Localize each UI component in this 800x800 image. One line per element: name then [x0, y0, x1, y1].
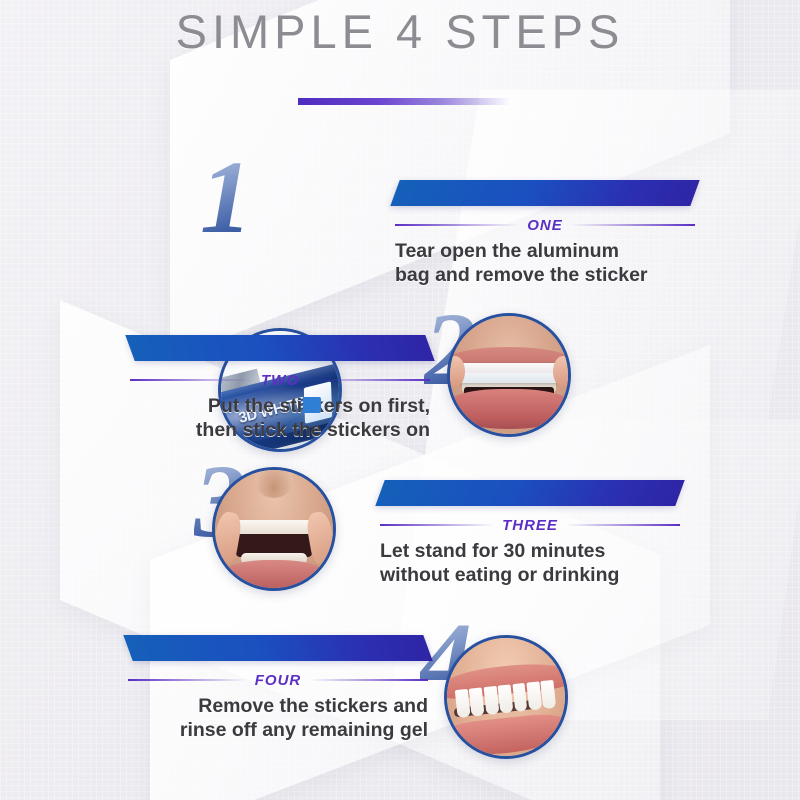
step-one-ordinal: ONE — [527, 217, 563, 234]
compression-artifact-square — [303, 397, 321, 413]
step-two-banner — [125, 335, 434, 361]
lower-lip — [444, 712, 568, 759]
finger-right — [305, 511, 336, 566]
step-three-ordinal: THREE — [502, 517, 558, 534]
step-one-banner — [390, 180, 699, 206]
step-three-line-1: Let stand for 30 minutes — [380, 540, 680, 564]
open-mouth-photo[interactable] — [212, 467, 336, 591]
tooth — [512, 683, 528, 713]
step-three-text-block: THREE Let stand for 30 minutes without e… — [380, 480, 680, 588]
step-four-text-block: FOUR Remove the stickers and rinse off a… — [128, 635, 428, 743]
step-two-line-1: Put the stickers on first, — [130, 395, 430, 419]
upper-teeth — [234, 520, 314, 535]
step-three-description: Let stand for 30 minutes without eating … — [380, 540, 680, 588]
nose — [255, 467, 293, 498]
step-number-1: 1 — [200, 146, 250, 250]
rule-left — [130, 379, 253, 381]
step-one-ordinal-row: ONE — [395, 217, 695, 233]
strip-on-teeth-photo[interactable] — [447, 313, 571, 437]
lower-lip — [224, 560, 323, 588]
open-mouth-illustration — [215, 470, 333, 588]
step-one-line-1: Tear open the aluminum — [395, 240, 695, 264]
step-two-ordinal: TWO — [261, 372, 299, 389]
step-two-line-2: then stick the stickers on — [130, 419, 430, 443]
step-one: 1 3D WHITE ONE Tear open the aluminum — [0, 140, 800, 320]
step-two-text-block: TWO Put the stickers on first, then stic… — [130, 335, 430, 443]
rule-right — [309, 679, 428, 681]
step-four-line-1: Remove the stickers and — [128, 695, 428, 719]
step-four: 4 — [0, 600, 800, 780]
step-four-ordinal: FOUR — [255, 672, 302, 689]
tooth — [498, 685, 514, 715]
step-three: 3 THREE — [0, 445, 800, 625]
rule-left — [380, 524, 494, 526]
page-title: SIMPLE 4 STEPS — [0, 0, 800, 59]
step-one-line-2: bag and remove the sticker — [395, 264, 695, 288]
step-one-description: Tear open the aluminum bag and remove th… — [395, 240, 695, 288]
step-two-ordinal-row: TWO — [130, 372, 430, 388]
smile-photo[interactable] — [444, 635, 568, 759]
rule-right — [566, 524, 680, 526]
poster-header: SIMPLE 4 STEPS — [0, 0, 800, 59]
whitening-strip — [455, 363, 564, 383]
step-four-banner — [123, 635, 432, 661]
finger-left — [212, 511, 243, 566]
strip-on-teeth-illustration — [450, 316, 568, 434]
step-one-text-block: ONE Tear open the aluminum bag and remov… — [395, 180, 695, 288]
smile-illustration — [447, 638, 565, 756]
rule-right — [307, 379, 430, 381]
tooth — [470, 688, 486, 718]
infographic-poster: SIMPLE 4 STEPS 1 3D WHITE ONE — [0, 0, 800, 800]
lower-lip — [447, 389, 571, 429]
step-three-line-2: without eating or drinking — [380, 564, 680, 588]
step-three-banner — [375, 480, 684, 506]
title-accent-bar — [298, 98, 510, 105]
rule-right — [571, 224, 695, 226]
step-two-description: Put the stickers on first, then stick th… — [130, 395, 430, 443]
step-four-ordinal-row: FOUR — [128, 672, 428, 688]
step-four-description: Remove the stickers and rinse off any re… — [128, 695, 428, 743]
step-four-line-2: rinse off any remaining gel — [128, 719, 428, 743]
step-three-ordinal-row: THREE — [380, 517, 680, 533]
finger-right — [553, 356, 571, 387]
rule-left — [128, 679, 247, 681]
rule-left — [395, 224, 519, 226]
